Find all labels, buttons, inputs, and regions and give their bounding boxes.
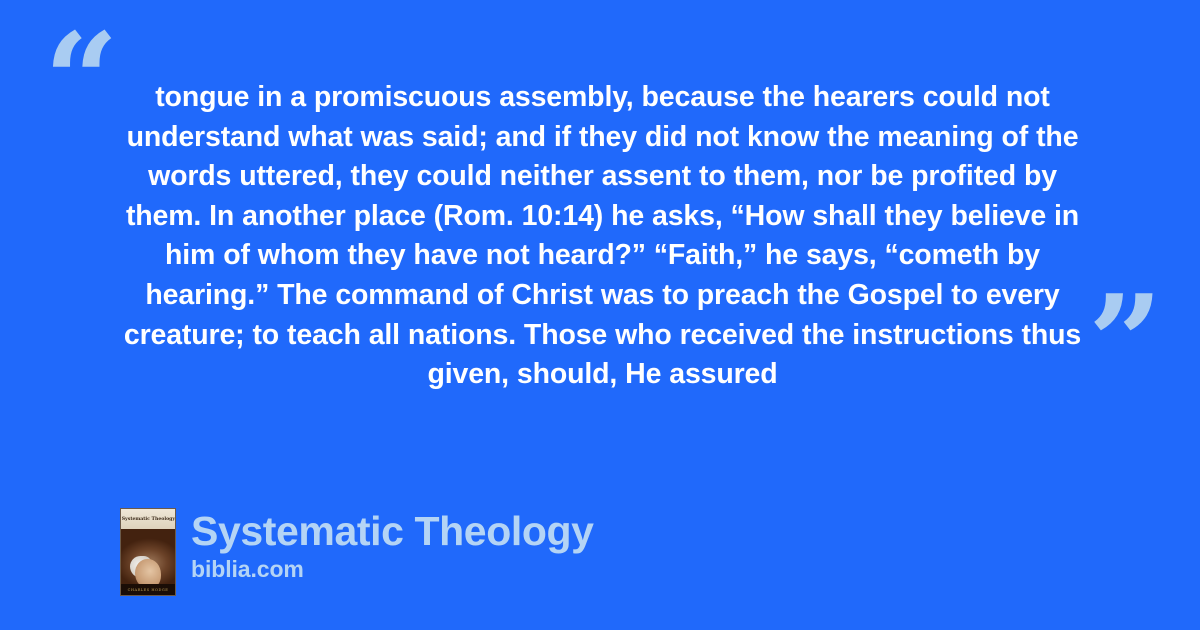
book-title: Systematic Theology — [191, 509, 594, 554]
book-cover-portrait — [121, 529, 175, 584]
quote-region: “ tongue in a promiscuous assembly, beca… — [0, 0, 1200, 440]
site-name: biblia.com — [191, 556, 594, 582]
quote-text: tongue in a promiscuous assembly, becaus… — [110, 78, 1095, 395]
book-cover-author-band: CHARLES HODGE — [121, 584, 175, 595]
book-cover-title-band: Systematic Theology — [121, 509, 175, 529]
book-cover-title-text: Systematic Theology — [121, 516, 174, 521]
book-cover-author-text: CHARLES HODGE — [128, 588, 169, 592]
closing-quote-icon: ” — [1088, 278, 1163, 408]
opening-quote-icon: “ — [44, 16, 119, 146]
book-cover-thumbnail: Systematic Theology CHARLES HODGE — [120, 508, 176, 596]
footer-text-group: Systematic Theology biblia.com — [191, 508, 594, 582]
attribution-footer: Systematic Theology CHARLES HODGE System… — [120, 508, 594, 596]
quote-card: “ tongue in a promiscuous assembly, beca… — [0, 0, 1200, 630]
